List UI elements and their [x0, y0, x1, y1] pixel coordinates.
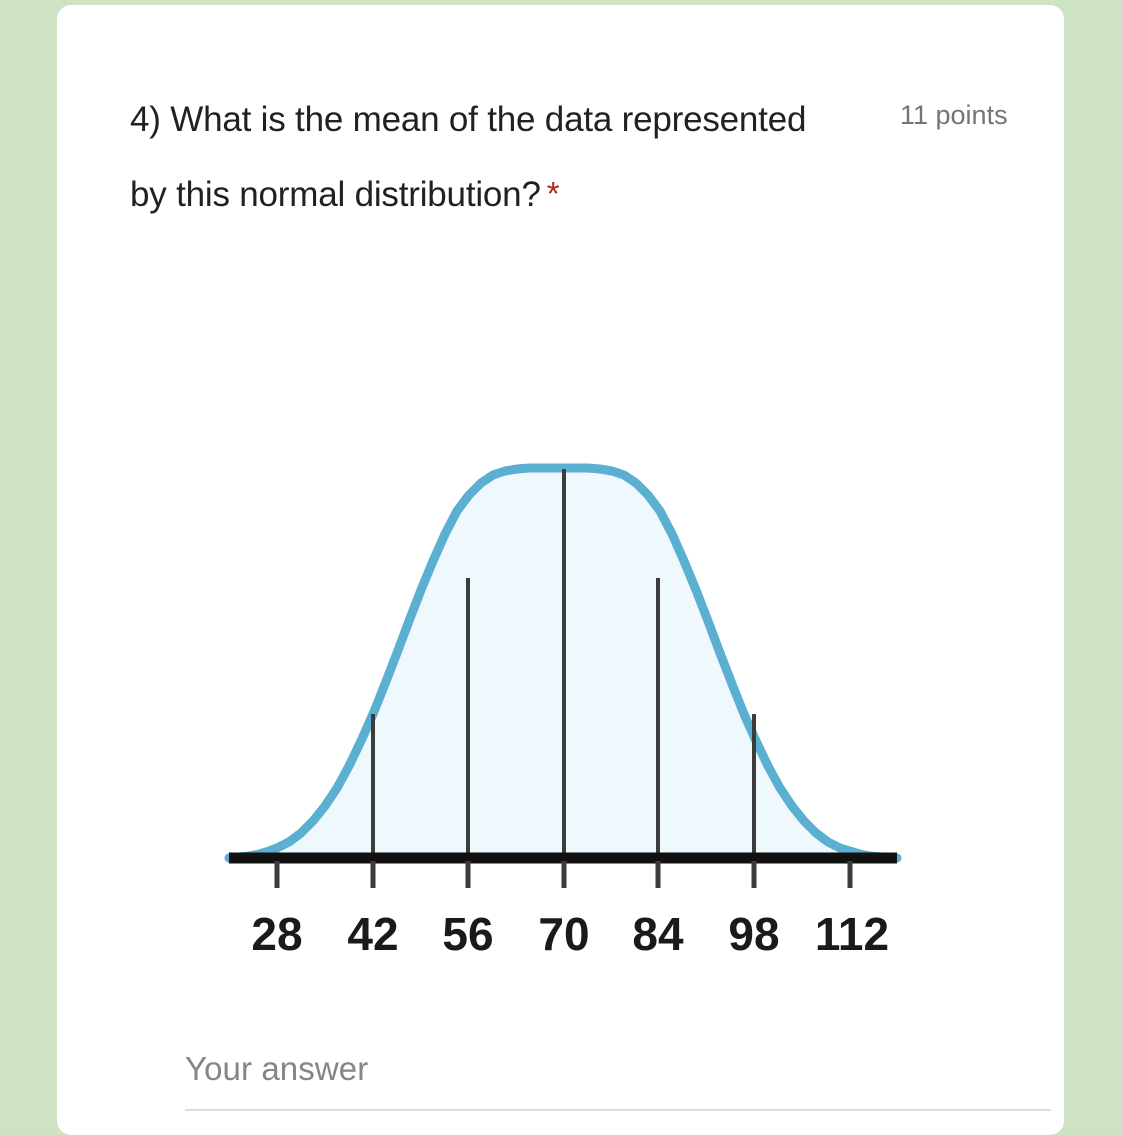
tick-label-2: 56: [442, 908, 493, 960]
tick-label-4: 84: [632, 908, 684, 960]
page-title: 4) What is the mean of the data represen…: [130, 83, 830, 232]
chart-svg: 28 42 56 70 84 98 112: [57, 305, 1064, 985]
tick-label-6: 112: [815, 908, 889, 960]
tick-label-0: 28: [251, 908, 302, 960]
form-question-card: 4) What is the mean of the data represen…: [57, 5, 1064, 1135]
x-axis-ticks: [277, 861, 850, 888]
answer-underline: [185, 1109, 1051, 1111]
x-axis-tick-labels: 28 42 56 70 84 98 112: [251, 908, 889, 960]
answer-placeholder[interactable]: Your answer: [185, 1047, 1051, 1109]
tick-label-1: 42: [347, 908, 398, 960]
points-badge: 11 points: [900, 100, 1008, 131]
question-text: 4) What is the mean of the data represen…: [130, 100, 806, 214]
required-asterisk: *: [541, 175, 560, 212]
question-block: 4) What is the mean of the data represen…: [130, 83, 1010, 232]
answer-field[interactable]: Your answer: [185, 1047, 1051, 1111]
tick-label-5: 98: [728, 908, 779, 960]
normal-distribution-chart: 28 42 56 70 84 98 112: [57, 305, 1064, 985]
tick-label-3: 70: [538, 908, 589, 960]
